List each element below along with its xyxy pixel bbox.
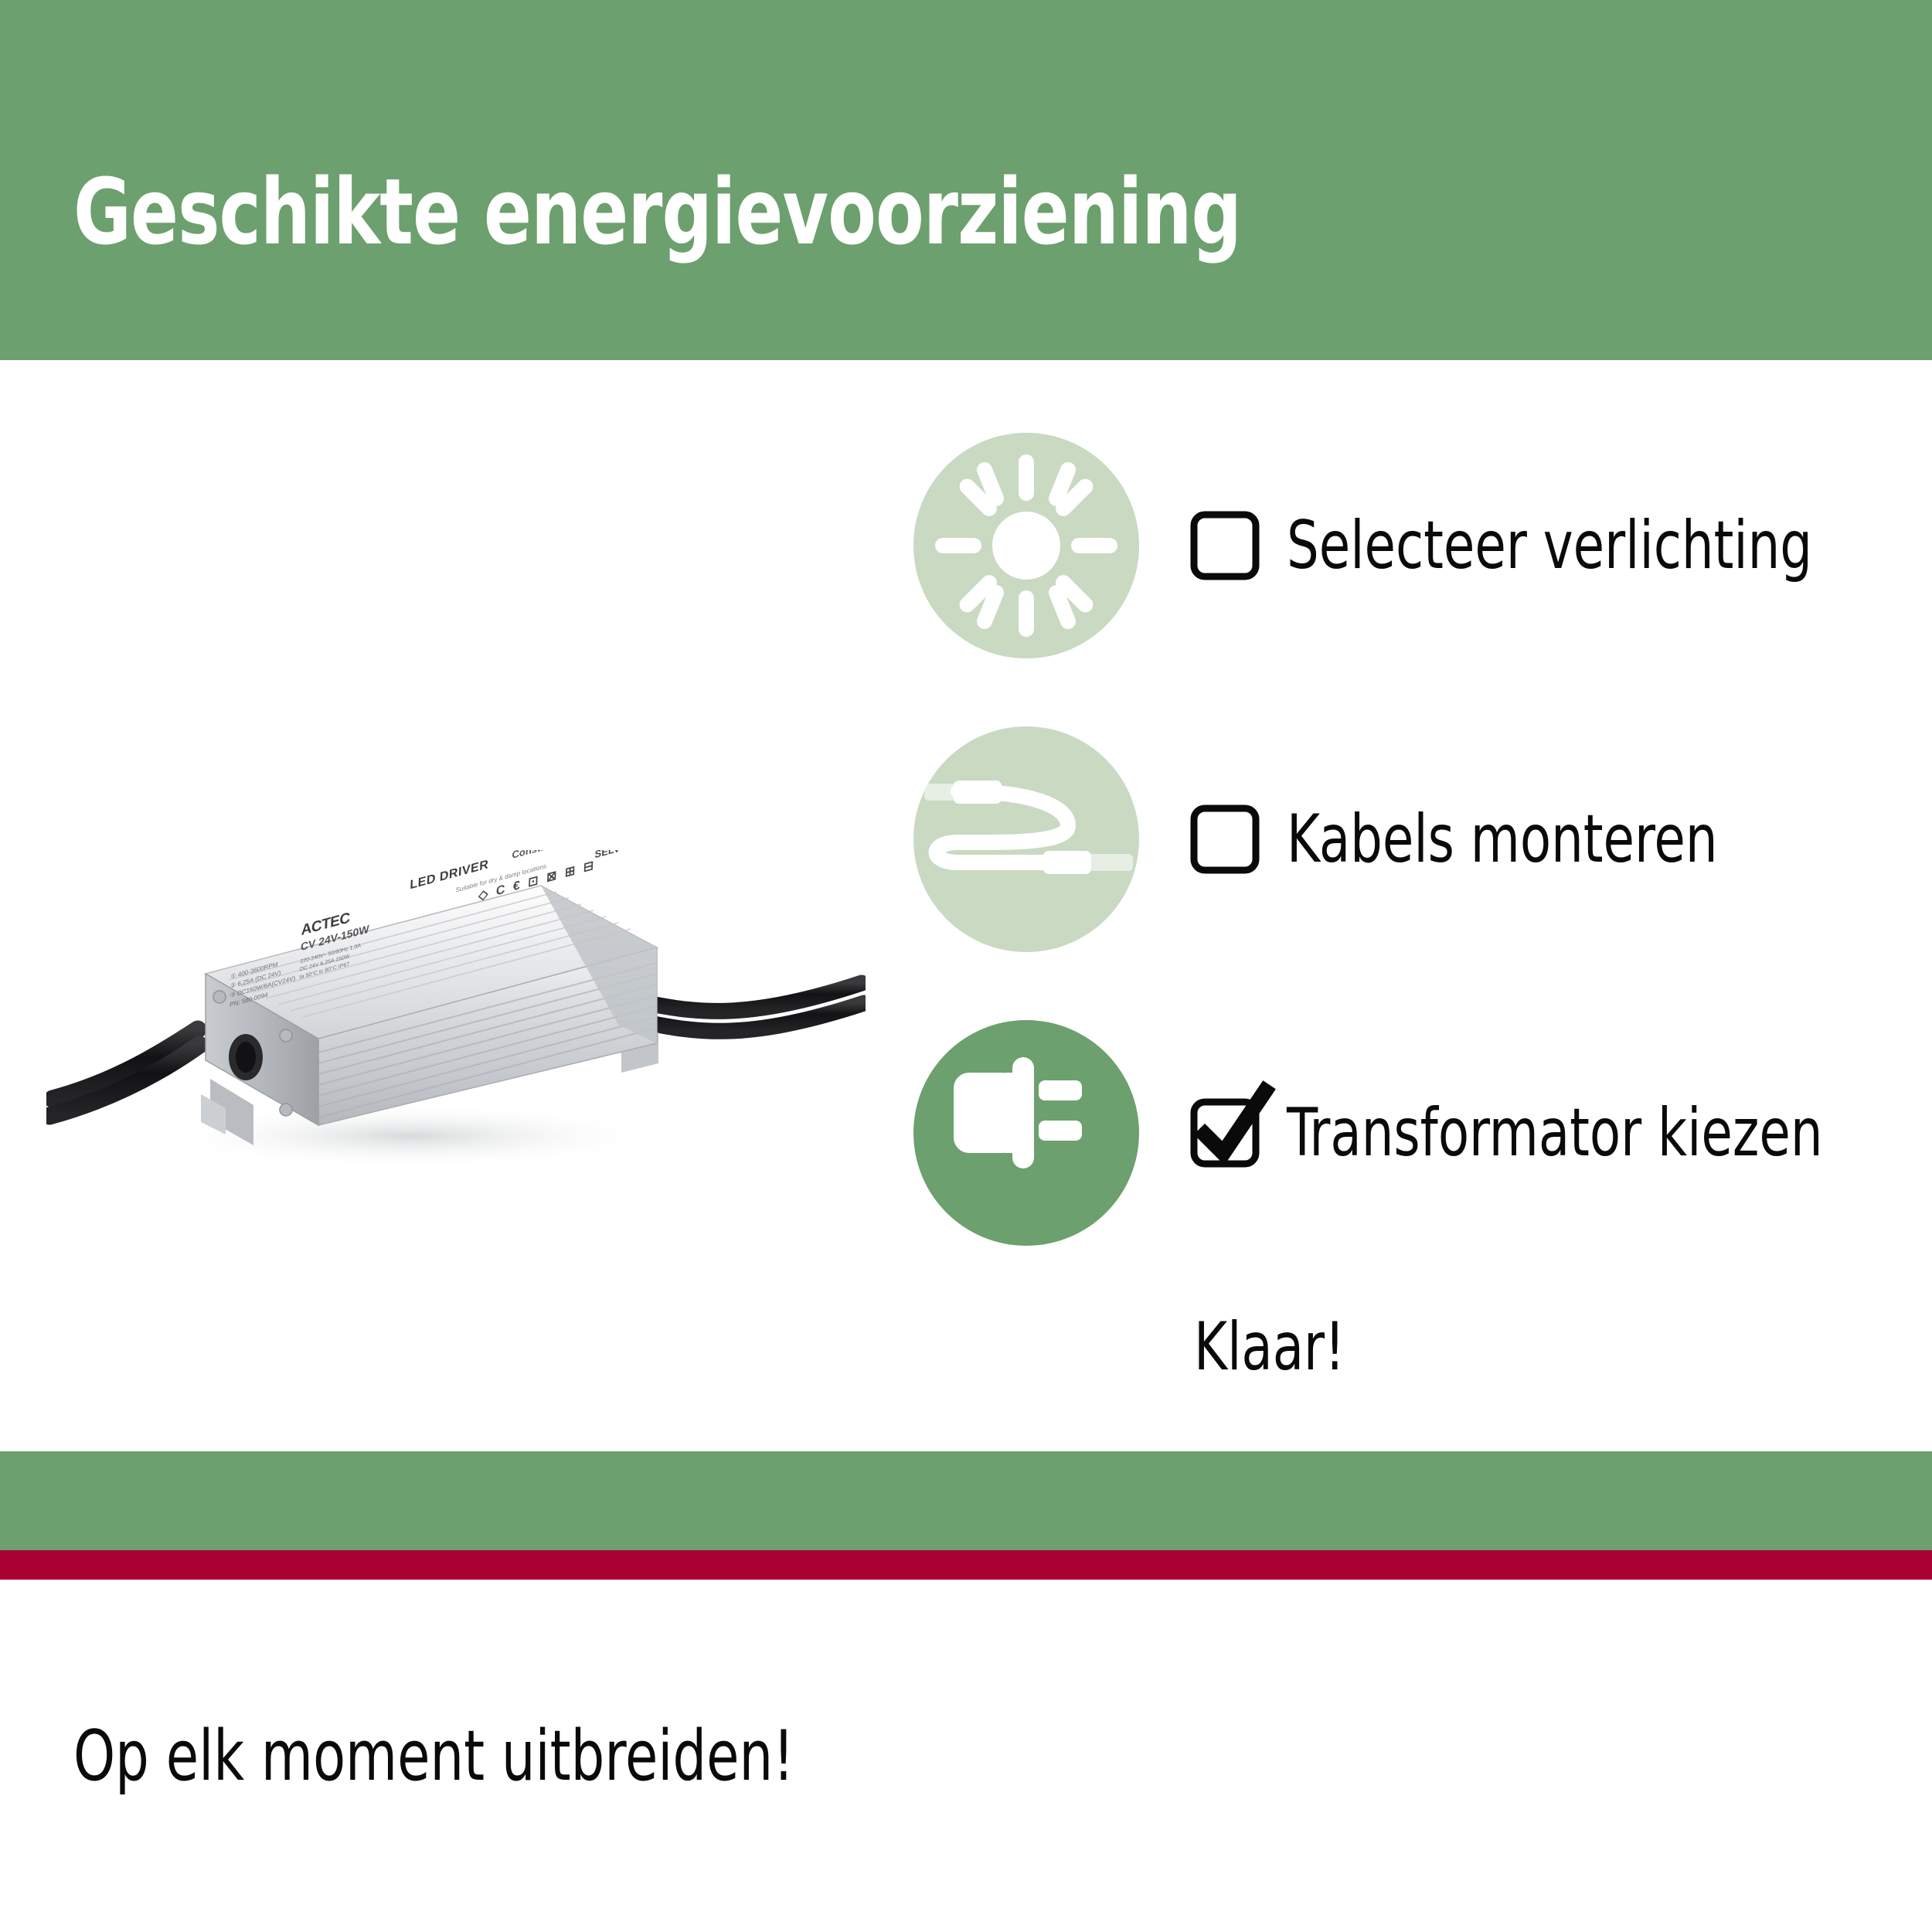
- checkbox-checked[interactable]: [1194, 1102, 1256, 1164]
- svg-text:SELV: SELV: [594, 850, 621, 860]
- checklist-row[interactable]: Kabels monteren: [913, 726, 1932, 952]
- checklist-item-label: Transformator kiezen: [1287, 1100, 1823, 1166]
- checklist-row-content[interactable]: Transformator kiezen: [1194, 1100, 1917, 1166]
- checklist-item-label: Kabels monteren: [1287, 806, 1718, 872]
- checklist-row[interactable]: Selecteer verlichting: [913, 433, 1932, 658]
- checklist: Selecteer verlichting Kabels monteren: [913, 433, 1932, 1314]
- checklist-item-label: Selecteer verlichting: [1287, 512, 1812, 579]
- checklist-row[interactable]: Transformator kiezen: [913, 1020, 1932, 1246]
- svg-text:Constant Voltage: Constant Voltage: [512, 850, 594, 861]
- led-driver-photo: ACTEC CV 24V-150W 220-240V~ 50/60Hz 1,0A…: [46, 850, 866, 1206]
- checkbox-unchecked[interactable]: [1194, 808, 1256, 870]
- page-title: Geschikte energievoorziening: [73, 166, 1241, 257]
- checklist-row-content[interactable]: Selecteer verlichting: [1194, 512, 1905, 579]
- done-text: Klaar!: [1194, 1314, 1345, 1380]
- cable-icon: [913, 726, 1139, 952]
- checklist-row-content[interactable]: Kabels monteren: [1194, 806, 1794, 872]
- footer-red-band: [0, 1550, 1932, 1580]
- checkbox-unchecked[interactable]: [1194, 515, 1256, 577]
- footer-text: Op elk moment uitbreiden!: [73, 1722, 794, 1791]
- power-plug-icon: [913, 1020, 1139, 1246]
- sun-icon: [913, 433, 1139, 658]
- footer-green-band: [0, 1451, 1932, 1550]
